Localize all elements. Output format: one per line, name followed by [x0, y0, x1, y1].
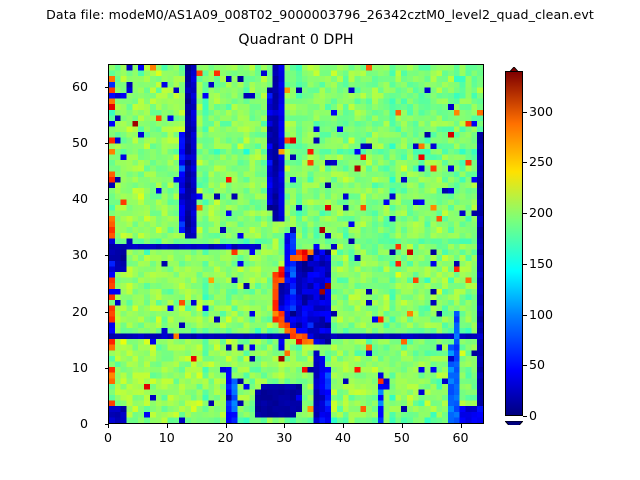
x-tick-mark — [402, 424, 403, 428]
colorbar-tick-mark — [523, 315, 527, 316]
x-tick-mark — [461, 424, 462, 428]
dph-heatmap-image — [109, 65, 483, 423]
colorbar-extend-max-arrow — [505, 62, 523, 71]
colorbar-tick-label: 150 — [529, 256, 553, 271]
y-tick-label: 0 — [48, 416, 88, 431]
y-tick-label: 50 — [48, 135, 88, 150]
y-tick-label: 10 — [48, 360, 88, 375]
colorbar — [505, 62, 523, 425]
y-tick-mark — [105, 368, 109, 369]
colorbar-tick-label: 100 — [529, 307, 553, 322]
data-file-label: Data file: modeM0/AS1A09_008T02_90000037… — [0, 7, 640, 22]
colorbar-tick-mark — [523, 112, 527, 113]
x-tick-mark — [108, 424, 109, 428]
colorbar-tick-label: 50 — [529, 357, 545, 372]
y-tick-mark — [105, 199, 109, 200]
y-tick-mark — [105, 424, 109, 425]
x-tick-label: 40 — [323, 430, 363, 445]
x-tick-mark — [343, 424, 344, 428]
x-tick-label: 50 — [382, 430, 422, 445]
colorbar-tick-label: 250 — [529, 154, 553, 169]
colorbar-tick-mark — [523, 213, 527, 214]
plot-title: Quadrant 0 DPH — [108, 32, 484, 48]
colorbar-gradient — [505, 71, 523, 416]
y-tick-mark — [105, 143, 109, 144]
colorbar-tick-mark — [523, 416, 527, 417]
colorbar-tick-mark — [523, 162, 527, 163]
x-tick-label: 60 — [441, 430, 481, 445]
y-tick-label: 40 — [48, 191, 88, 206]
dph-heatmap-axes — [108, 64, 484, 424]
colorbar-tick-mark — [523, 365, 527, 366]
x-tick-label: 0 — [88, 430, 128, 445]
x-tick-mark — [167, 424, 168, 428]
matplotlib-figure: Data file: modeM0/AS1A09_008T02_90000037… — [0, 0, 640, 480]
colorbar-tick-label: 0 — [529, 408, 537, 423]
y-tick-label: 30 — [48, 247, 88, 262]
y-tick-label: 60 — [48, 79, 88, 94]
x-tick-label: 30 — [264, 430, 304, 445]
y-tick-label: 20 — [48, 304, 88, 319]
y-tick-mark — [105, 312, 109, 313]
y-tick-mark — [105, 87, 109, 88]
x-tick-label: 10 — [147, 430, 187, 445]
y-tick-mark — [105, 255, 109, 256]
x-tick-label: 20 — [206, 430, 246, 445]
colorbar-tick-mark — [523, 264, 527, 265]
colorbar-extend-min-arrow — [505, 416, 523, 425]
colorbar-tick-label: 200 — [529, 205, 553, 220]
x-tick-mark — [226, 424, 227, 428]
x-tick-mark — [284, 424, 285, 428]
colorbar-tick-label: 300 — [529, 104, 553, 119]
